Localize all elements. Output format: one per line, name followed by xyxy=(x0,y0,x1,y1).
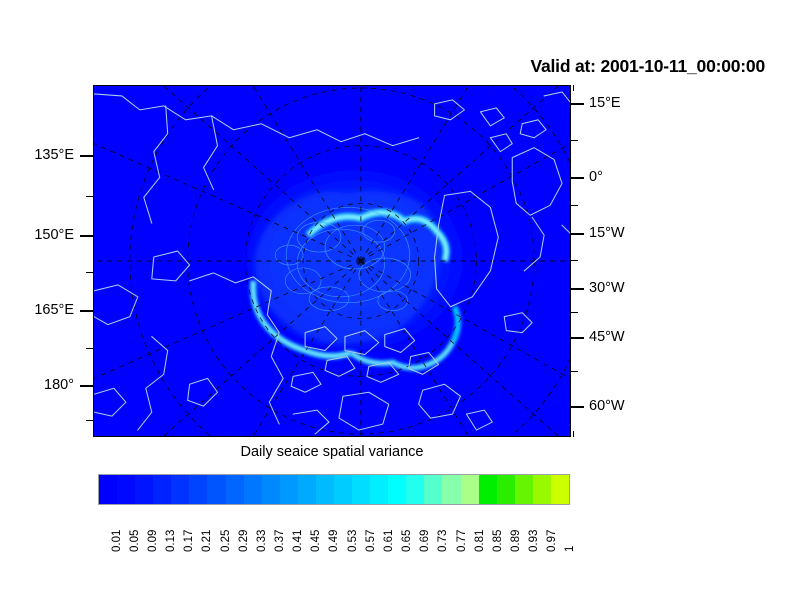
axis-tick-bottom xyxy=(413,431,414,437)
colorbar-tick-label: 0.89 xyxy=(511,530,523,552)
axis-tick-top xyxy=(413,85,414,91)
axis-tick-top xyxy=(493,85,494,91)
colorbar-tick-label: 0.09 xyxy=(148,530,160,552)
axis-tick-bottom xyxy=(253,431,254,437)
axis-tick-right xyxy=(571,288,584,290)
axis-tick-right xyxy=(571,312,578,313)
axis-tick-left xyxy=(86,196,93,197)
colorbar-swatch xyxy=(316,475,334,504)
colorbar-swatch xyxy=(298,475,316,504)
colorbar-swatch xyxy=(551,475,569,504)
colorbar-tick-label: 0.17 xyxy=(184,530,196,552)
axis-tick-left xyxy=(80,310,93,312)
colorbar-tick-label: 0.65 xyxy=(402,530,414,552)
colorbar-tick-label: 0.21 xyxy=(202,530,214,552)
axis-tick-right xyxy=(571,205,578,206)
colorbar-swatch xyxy=(99,475,117,504)
colorbar-swatch xyxy=(244,475,262,504)
colorbar-tick-label: 0.13 xyxy=(166,530,178,552)
colorbar-tick-label: 0.41 xyxy=(293,530,305,552)
left-axis-label-2: 165°E xyxy=(34,303,74,318)
colorbar-swatch xyxy=(153,475,171,504)
axis-tick-right xyxy=(571,233,584,235)
colorbar-swatch xyxy=(117,475,135,504)
colorbar-tick-label: 0.57 xyxy=(366,530,378,552)
left-axis-label-3: 180° xyxy=(44,378,74,393)
colorbar-swatch xyxy=(515,475,533,504)
right-axis-label-5: 60°W xyxy=(589,399,625,414)
colorbar-tick-label: 0.53 xyxy=(348,530,360,552)
axis-tick-left xyxy=(86,348,93,349)
right-axis-label-3: 30°W xyxy=(589,281,625,296)
colorbar-swatch xyxy=(334,475,352,504)
colorbar-swatch xyxy=(388,475,406,504)
colorbar-tick-label: 0.29 xyxy=(239,530,251,552)
colorbar-tick-label: 0.69 xyxy=(420,530,432,552)
axis-tick-left xyxy=(86,420,93,421)
axis-tick-right xyxy=(571,406,584,408)
right-axis-label-4: 45°W xyxy=(589,330,625,345)
plot-caption: Daily seaice spatial variance xyxy=(93,444,571,460)
colorbar-swatch xyxy=(370,475,388,504)
colorbar-swatch xyxy=(189,475,207,504)
colorbar-tick-label: 0.97 xyxy=(547,530,559,552)
right-axis-label-0: 15°E xyxy=(589,96,621,111)
colorbar-swatch xyxy=(262,475,280,504)
axis-tick-bottom xyxy=(333,431,334,437)
axis-tick-bottom xyxy=(573,431,574,437)
colorbar-swatch xyxy=(280,475,298,504)
axis-tick-bottom xyxy=(493,431,494,437)
colorbar-tick-label: 0.77 xyxy=(457,530,469,552)
axis-tick-right xyxy=(571,177,584,179)
axis-tick-right xyxy=(571,260,578,261)
colorbar[interactable] xyxy=(98,474,570,505)
axis-tick-right xyxy=(571,103,584,105)
colorbar-tick-label: 0.33 xyxy=(257,530,269,552)
axis-tick-right xyxy=(571,371,578,372)
colorbar-swatch xyxy=(461,475,479,504)
figure-canvas: Valid at: 2001-10-11_00:00:00 xyxy=(0,0,792,612)
colorbar-tick-label: 0.25 xyxy=(221,530,233,552)
colorbar-tick-label: 0.01 xyxy=(112,530,124,552)
colorbar-swatch xyxy=(171,475,189,504)
right-axis-label-2: 15°W xyxy=(589,226,625,241)
colorbar-tick-label: 0.61 xyxy=(384,530,396,552)
axis-tick-right xyxy=(571,140,578,141)
colorbar-swatch xyxy=(135,475,153,504)
colorbar-tick-label: 0.49 xyxy=(329,530,341,552)
axis-tick-top xyxy=(333,85,334,91)
axis-tick-right xyxy=(571,337,584,339)
colorbar-swatch xyxy=(226,475,244,504)
polar-stereographic-map xyxy=(94,86,570,436)
colorbar-swatch xyxy=(352,475,370,504)
colorbar-tick-labels: 0.010.050.090.130.170.210.250.290.330.37… xyxy=(98,508,570,568)
colorbar-swatch xyxy=(424,475,442,504)
colorbar-swatch xyxy=(207,475,225,504)
map-plot-area[interactable] xyxy=(93,85,571,437)
colorbar-swatch xyxy=(406,475,424,504)
right-axis-label-1: 0° xyxy=(589,170,603,185)
colorbar-tick-label: 0.73 xyxy=(438,530,450,552)
colorbar-container[interactable] xyxy=(98,474,570,505)
axis-tick-left xyxy=(86,272,93,273)
page-title: Valid at: 2001-10-11_00:00:00 xyxy=(460,56,765,77)
axis-tick-top xyxy=(253,85,254,91)
colorbar-tick-label: 0.93 xyxy=(529,530,541,552)
colorbar-tick-label: 0.85 xyxy=(493,530,505,552)
axis-tick-left xyxy=(80,235,93,237)
colorbar-swatch xyxy=(533,475,551,504)
colorbar-tick-label: 0.81 xyxy=(475,530,487,552)
colorbar-tick-label: 0.45 xyxy=(311,530,323,552)
colorbar-swatch xyxy=(479,475,497,504)
axis-tick-left xyxy=(80,385,93,387)
axis-tick-top xyxy=(573,85,574,91)
colorbar-tick-label: 0.05 xyxy=(130,530,142,552)
colorbar-swatch xyxy=(497,475,515,504)
colorbar-tick-label: 0.37 xyxy=(275,530,287,552)
colorbar-tick-label: 1 xyxy=(565,546,577,552)
colorbar-swatch xyxy=(442,475,460,504)
left-axis-label-0: 135°E xyxy=(34,148,74,163)
left-axis-label-1: 150°E xyxy=(34,228,74,243)
axis-tick-left xyxy=(80,155,93,157)
